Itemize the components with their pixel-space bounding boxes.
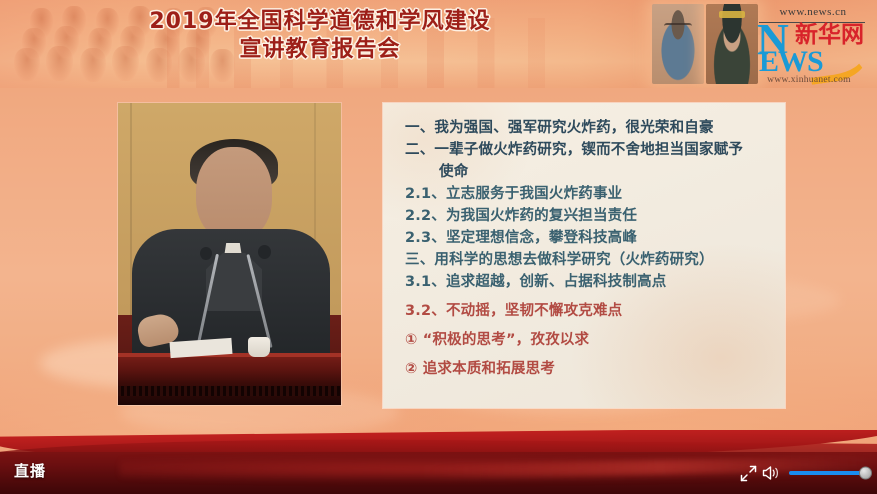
logo-letters-ews: EWS xyxy=(759,48,823,76)
event-title: 2019年全国科学道德和学风建设 宣讲教育报告会 xyxy=(0,8,640,64)
slide-line: 一、我为强国、强军研究火炸药，很光荣和自豪 xyxy=(405,117,775,139)
slide-text-block: 一、我为强国、强军研究火炸药，很光荣和自豪二、一辈子做火炸药研究，锲而不舍地担当… xyxy=(405,117,775,380)
slide-line: 3.1、追求超越，创新、占据科技制高点 xyxy=(405,271,775,293)
logo-chinese-name: 新华网 xyxy=(795,24,864,47)
event-title-line-2: 宣讲教育报告会 xyxy=(0,36,640,64)
microphone-left-head xyxy=(200,247,212,260)
microphone-right-head xyxy=(258,245,271,259)
logo-url-bottom: www.xinhuanet.com xyxy=(753,75,865,85)
slide-line: 2.3、坚定理想信念，攀登科技高峰 xyxy=(405,227,775,249)
speaker-head xyxy=(196,147,272,241)
player-controls xyxy=(740,462,867,484)
xinhua-logo[interactable]: www.news.cn N EWS 新华网 www.xinhuanet.com xyxy=(753,4,865,84)
slide-line: ② 追求本质和拓展思考 xyxy=(405,358,775,380)
slide-line: 2.2、为我国火炸药的复兴担当责任 xyxy=(405,205,775,227)
volume-slider-thumb[interactable] xyxy=(859,467,872,480)
podium-trim xyxy=(118,386,341,396)
slide-line: 二、一辈子做火炸药研究，锲而不舍地担当国家赋予 xyxy=(405,139,775,161)
speaker-video-thumbnail xyxy=(118,103,341,405)
event-banner: 2019年全国科学道德和学风建设 宣讲教育报告会 www.news.cn N E… xyxy=(0,0,877,88)
fullscreen-icon[interactable] xyxy=(740,465,757,482)
featured-portrait-officer xyxy=(706,4,758,84)
live-badge: 直播 xyxy=(14,460,46,481)
video-player-stage: 2019年全国科学道德和学风建设 宣讲教育报告会 www.news.cn N E… xyxy=(0,0,877,494)
slide-line: 使命 xyxy=(405,161,775,183)
volume-slider[interactable] xyxy=(789,471,867,475)
presentation-slide: 一、我为强国、强军研究火炸药，很光荣和自豪二、一辈子做火炸药研究，锲而不舍地担当… xyxy=(383,103,785,408)
featured-portrait-scientist xyxy=(652,4,704,84)
volume-icon[interactable] xyxy=(761,464,783,482)
podium-cup xyxy=(248,337,270,357)
slide-line: 3.2、不动摇，坚韧不懈攻克难点 xyxy=(405,300,775,322)
slide-line: 2.1、立志服务于我国火炸药事业 xyxy=(405,183,775,205)
slide-line: 三、用科学的思想去做科学研究（火炸药研究） xyxy=(405,249,775,271)
slide-line: ① “积极的思考”，孜孜以求 xyxy=(405,329,775,351)
event-title-line-1: 2019年全国科学道德和学风建设 xyxy=(0,8,640,36)
podium xyxy=(118,353,341,405)
